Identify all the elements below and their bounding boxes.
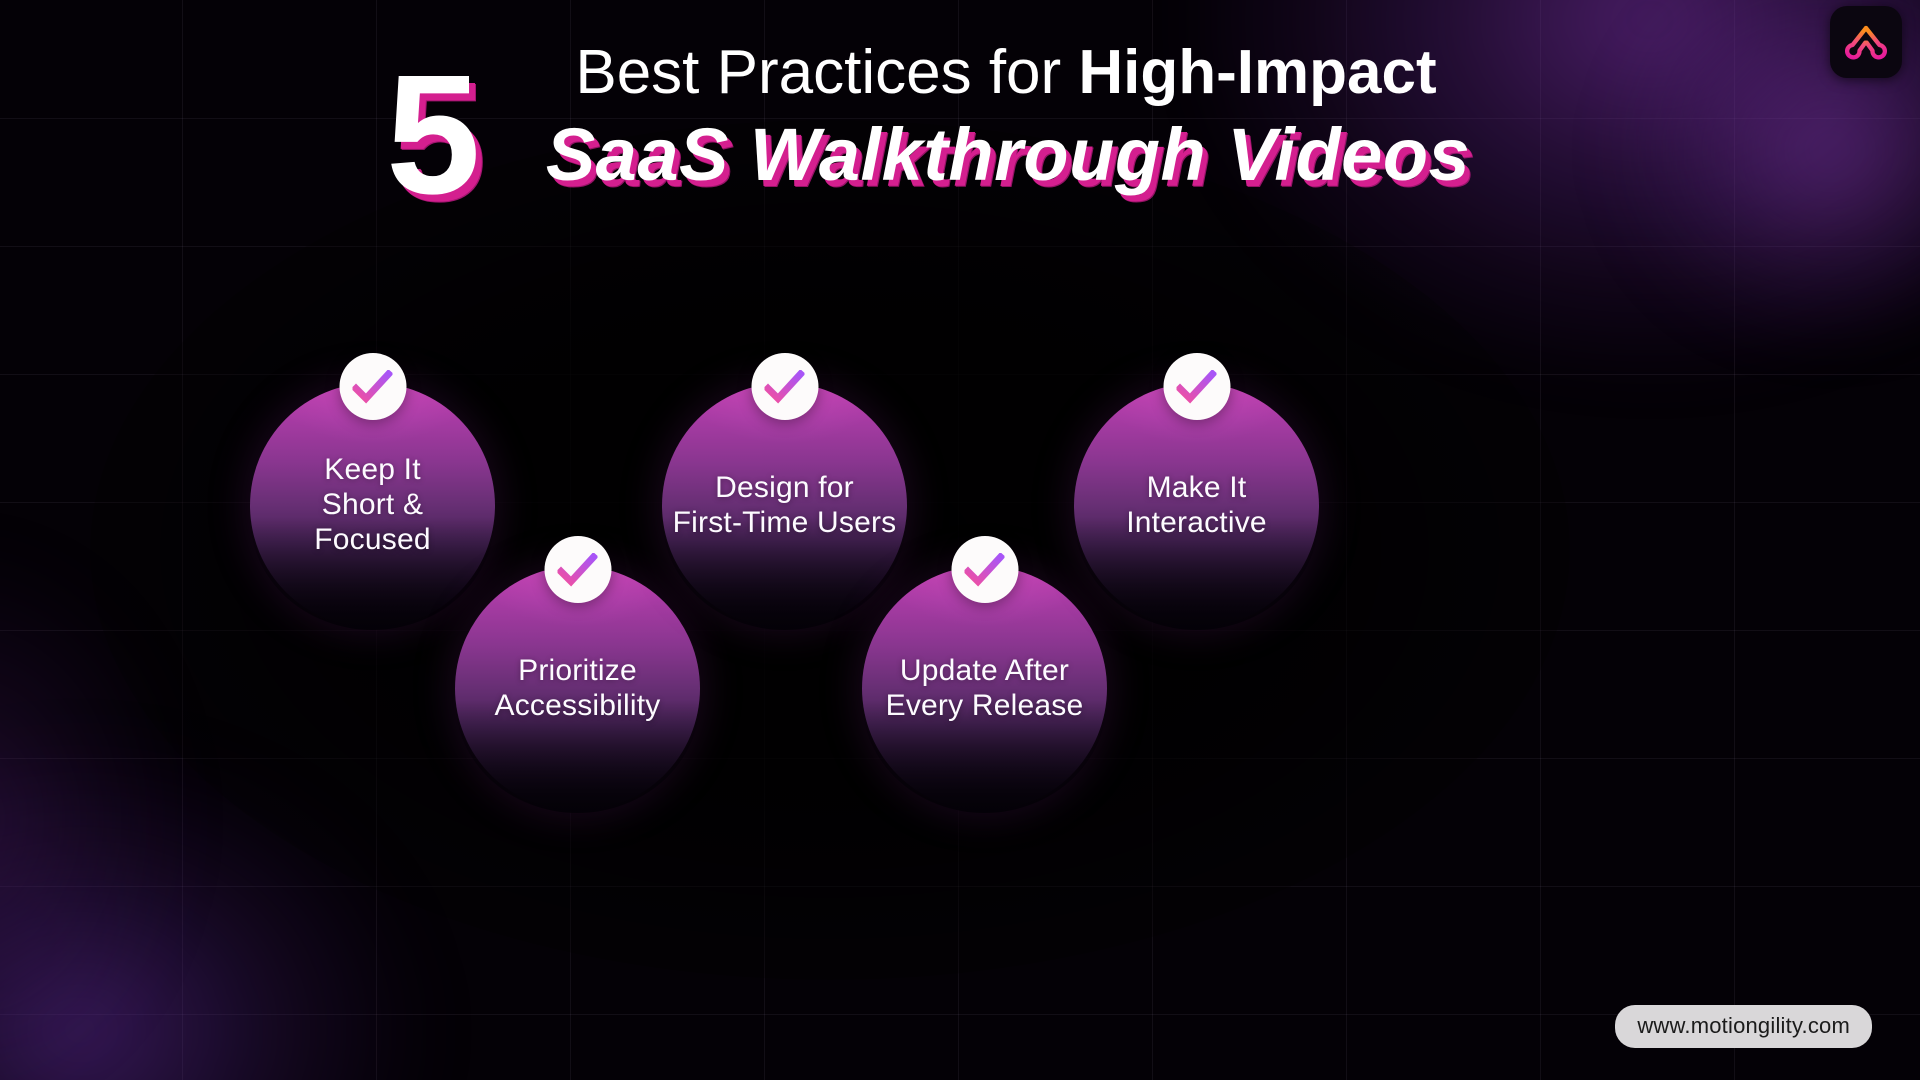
practice-circle-make-it-interactive[interactable]: Make ItInteractive: [1074, 383, 1319, 628]
practice-circle-keep-it-short-and-focused[interactable]: Keep ItShort & Focused: [250, 383, 495, 628]
practice-label-design-for-first-time-users: Design forFirst-Time Users: [663, 471, 907, 541]
practice-label-line-2: Accessibility: [495, 689, 661, 724]
practice-label-prioritize-accessibility: PrioritizeAccessibility: [485, 654, 671, 724]
practice-label-line-1: Keep It: [260, 453, 485, 488]
website-url-pill[interactable]: www.motiongility.com: [1615, 1005, 1872, 1048]
practice-label-line-1: Prioritize: [495, 654, 661, 689]
practice-label-line-2: First-Time Users: [673, 506, 897, 541]
check-badge-update-after-every-release: [951, 536, 1018, 603]
check-icon: [965, 553, 1005, 587]
check-badge-prioritize-accessibility: [544, 536, 611, 603]
practice-label-line-2: Short & Focused: [260, 488, 485, 558]
title-line-1-regular: Best Practices for: [575, 38, 1078, 107]
practice-label-line-1: Design for: [673, 471, 897, 506]
check-icon: [558, 553, 598, 587]
practice-label-keep-it-short-and-focused: Keep ItShort & Focused: [250, 453, 495, 557]
infographic-canvas: 5 Best Practices for High-Impact SaaS Wa…: [0, 0, 1920, 1080]
practice-circle-update-after-every-release[interactable]: Update AfterEvery Release: [862, 566, 1107, 811]
title-line-1: Best Practices for High-Impact: [483, 38, 1436, 107]
check-badge-keep-it-short-and-focused: [339, 353, 406, 420]
practice-label-line-1: Update After: [886, 654, 1084, 689]
title-line-1-bold: High-Impact: [1078, 38, 1436, 107]
practice-circle-prioritize-accessibility[interactable]: PrioritizeAccessibility: [455, 566, 700, 811]
check-icon: [1177, 370, 1217, 404]
title-line-2: SaaS Walkthrough Videos: [0, 118, 1920, 192]
check-icon: [765, 370, 805, 404]
check-icon: [353, 370, 393, 404]
practice-label-line-2: Every Release: [886, 689, 1084, 724]
practice-label-update-after-every-release: Update AfterEvery Release: [876, 654, 1094, 724]
practice-label-line-1: Make It: [1126, 471, 1267, 506]
check-badge-design-for-first-time-users: [751, 353, 818, 420]
practice-label-line-2: Interactive: [1126, 506, 1267, 541]
check-badge-make-it-interactive: [1163, 353, 1230, 420]
page-title: 5 Best Practices for High-Impact SaaS Wa…: [0, 42, 1920, 192]
practice-label-make-it-interactive: Make ItInteractive: [1116, 471, 1277, 541]
practice-circle-design-for-first-time-users[interactable]: Design forFirst-Time Users: [662, 383, 907, 628]
